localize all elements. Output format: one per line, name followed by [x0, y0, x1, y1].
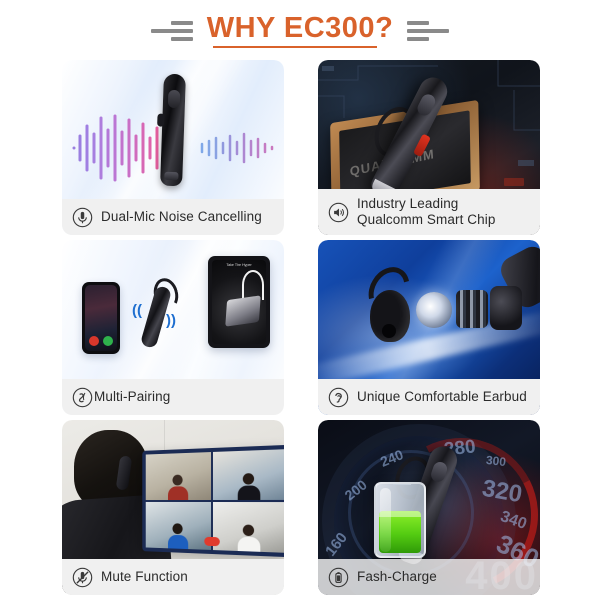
feature-card-multi-pairing[interactable]: (( )) Take The Hyper [62, 240, 284, 415]
feature-card-dual-mic[interactable]: Dual-Mic Noise Cancelling [62, 60, 284, 235]
feature-card-fash-charge[interactable]: 160 200 240 280 300 320 340 360 400 [318, 420, 540, 595]
feature-caption-comfortable-earbud: Unique Comfortable Earbud [318, 379, 540, 415]
ear-icon [328, 387, 349, 408]
ear-tip-graphic [370, 290, 410, 342]
feature-caption-fash-charge: Fash-Charge [318, 559, 540, 595]
speaker-driver-graphic [416, 292, 452, 328]
feature-label-fash-charge: Fash-Charge [357, 569, 437, 585]
bluetooth-wave-left-icon: (( [132, 302, 142, 319]
title-underline [213, 46, 378, 48]
bluetooth-wave-right-icon: )) [166, 312, 176, 329]
speed-tick-300: 300 [485, 453, 506, 469]
feature-label-comfortable-earbud: Unique Comfortable Earbud [357, 389, 527, 405]
page-title: WHY EC300? [207, 14, 394, 48]
page-header: WHY EC300? [0, 0, 600, 58]
feature-label-multi-pairing: Multi-Pairing [94, 389, 170, 405]
feature-caption-mute-function: Mute Function [62, 559, 284, 595]
mic-muted-icon [72, 567, 93, 588]
pairing-icon [72, 387, 93, 408]
video-call-monitor-graphic [142, 445, 284, 557]
feature-caption-multi-pairing: Multi-Pairing [62, 379, 284, 415]
feature-label-mute-function: Mute Function [101, 569, 188, 585]
headset-device-graphic [160, 74, 186, 187]
header-decoration-right-icon [407, 21, 449, 41]
header-decoration-left-icon [151, 21, 193, 41]
smartphone-graphic [82, 282, 120, 354]
battery-icon [328, 567, 349, 588]
feature-caption-qualcomm-chip: Industry Leading Qualcomm Smart Chip [318, 189, 540, 235]
feature-label-qualcomm-chip: Industry Leading Qualcomm Smart Chip [357, 196, 495, 228]
feature-label-dual-mic: Dual-Mic Noise Cancelling [101, 209, 262, 225]
feature-grid: Dual-Mic Noise Cancelling [62, 60, 540, 595]
feature-card-mute-function[interactable]: Mute Function [62, 420, 284, 595]
feature-caption-dual-mic: Dual-Mic Noise Cancelling [62, 199, 284, 235]
microphone-icon [72, 207, 93, 228]
battery-graphic [374, 482, 426, 558]
tablet-graphic: Take The Hyper [208, 256, 270, 348]
speaker-icon [328, 202, 349, 223]
feature-card-comfortable-earbud[interactable]: Unique Comfortable Earbud [318, 240, 540, 415]
feature-card-qualcomm-chip[interactable]: Industry Leading Qualcomm Smart Chip [318, 60, 540, 235]
page-title-text: WHY EC300? [207, 14, 394, 43]
end-call-button-graphic [204, 537, 220, 546]
